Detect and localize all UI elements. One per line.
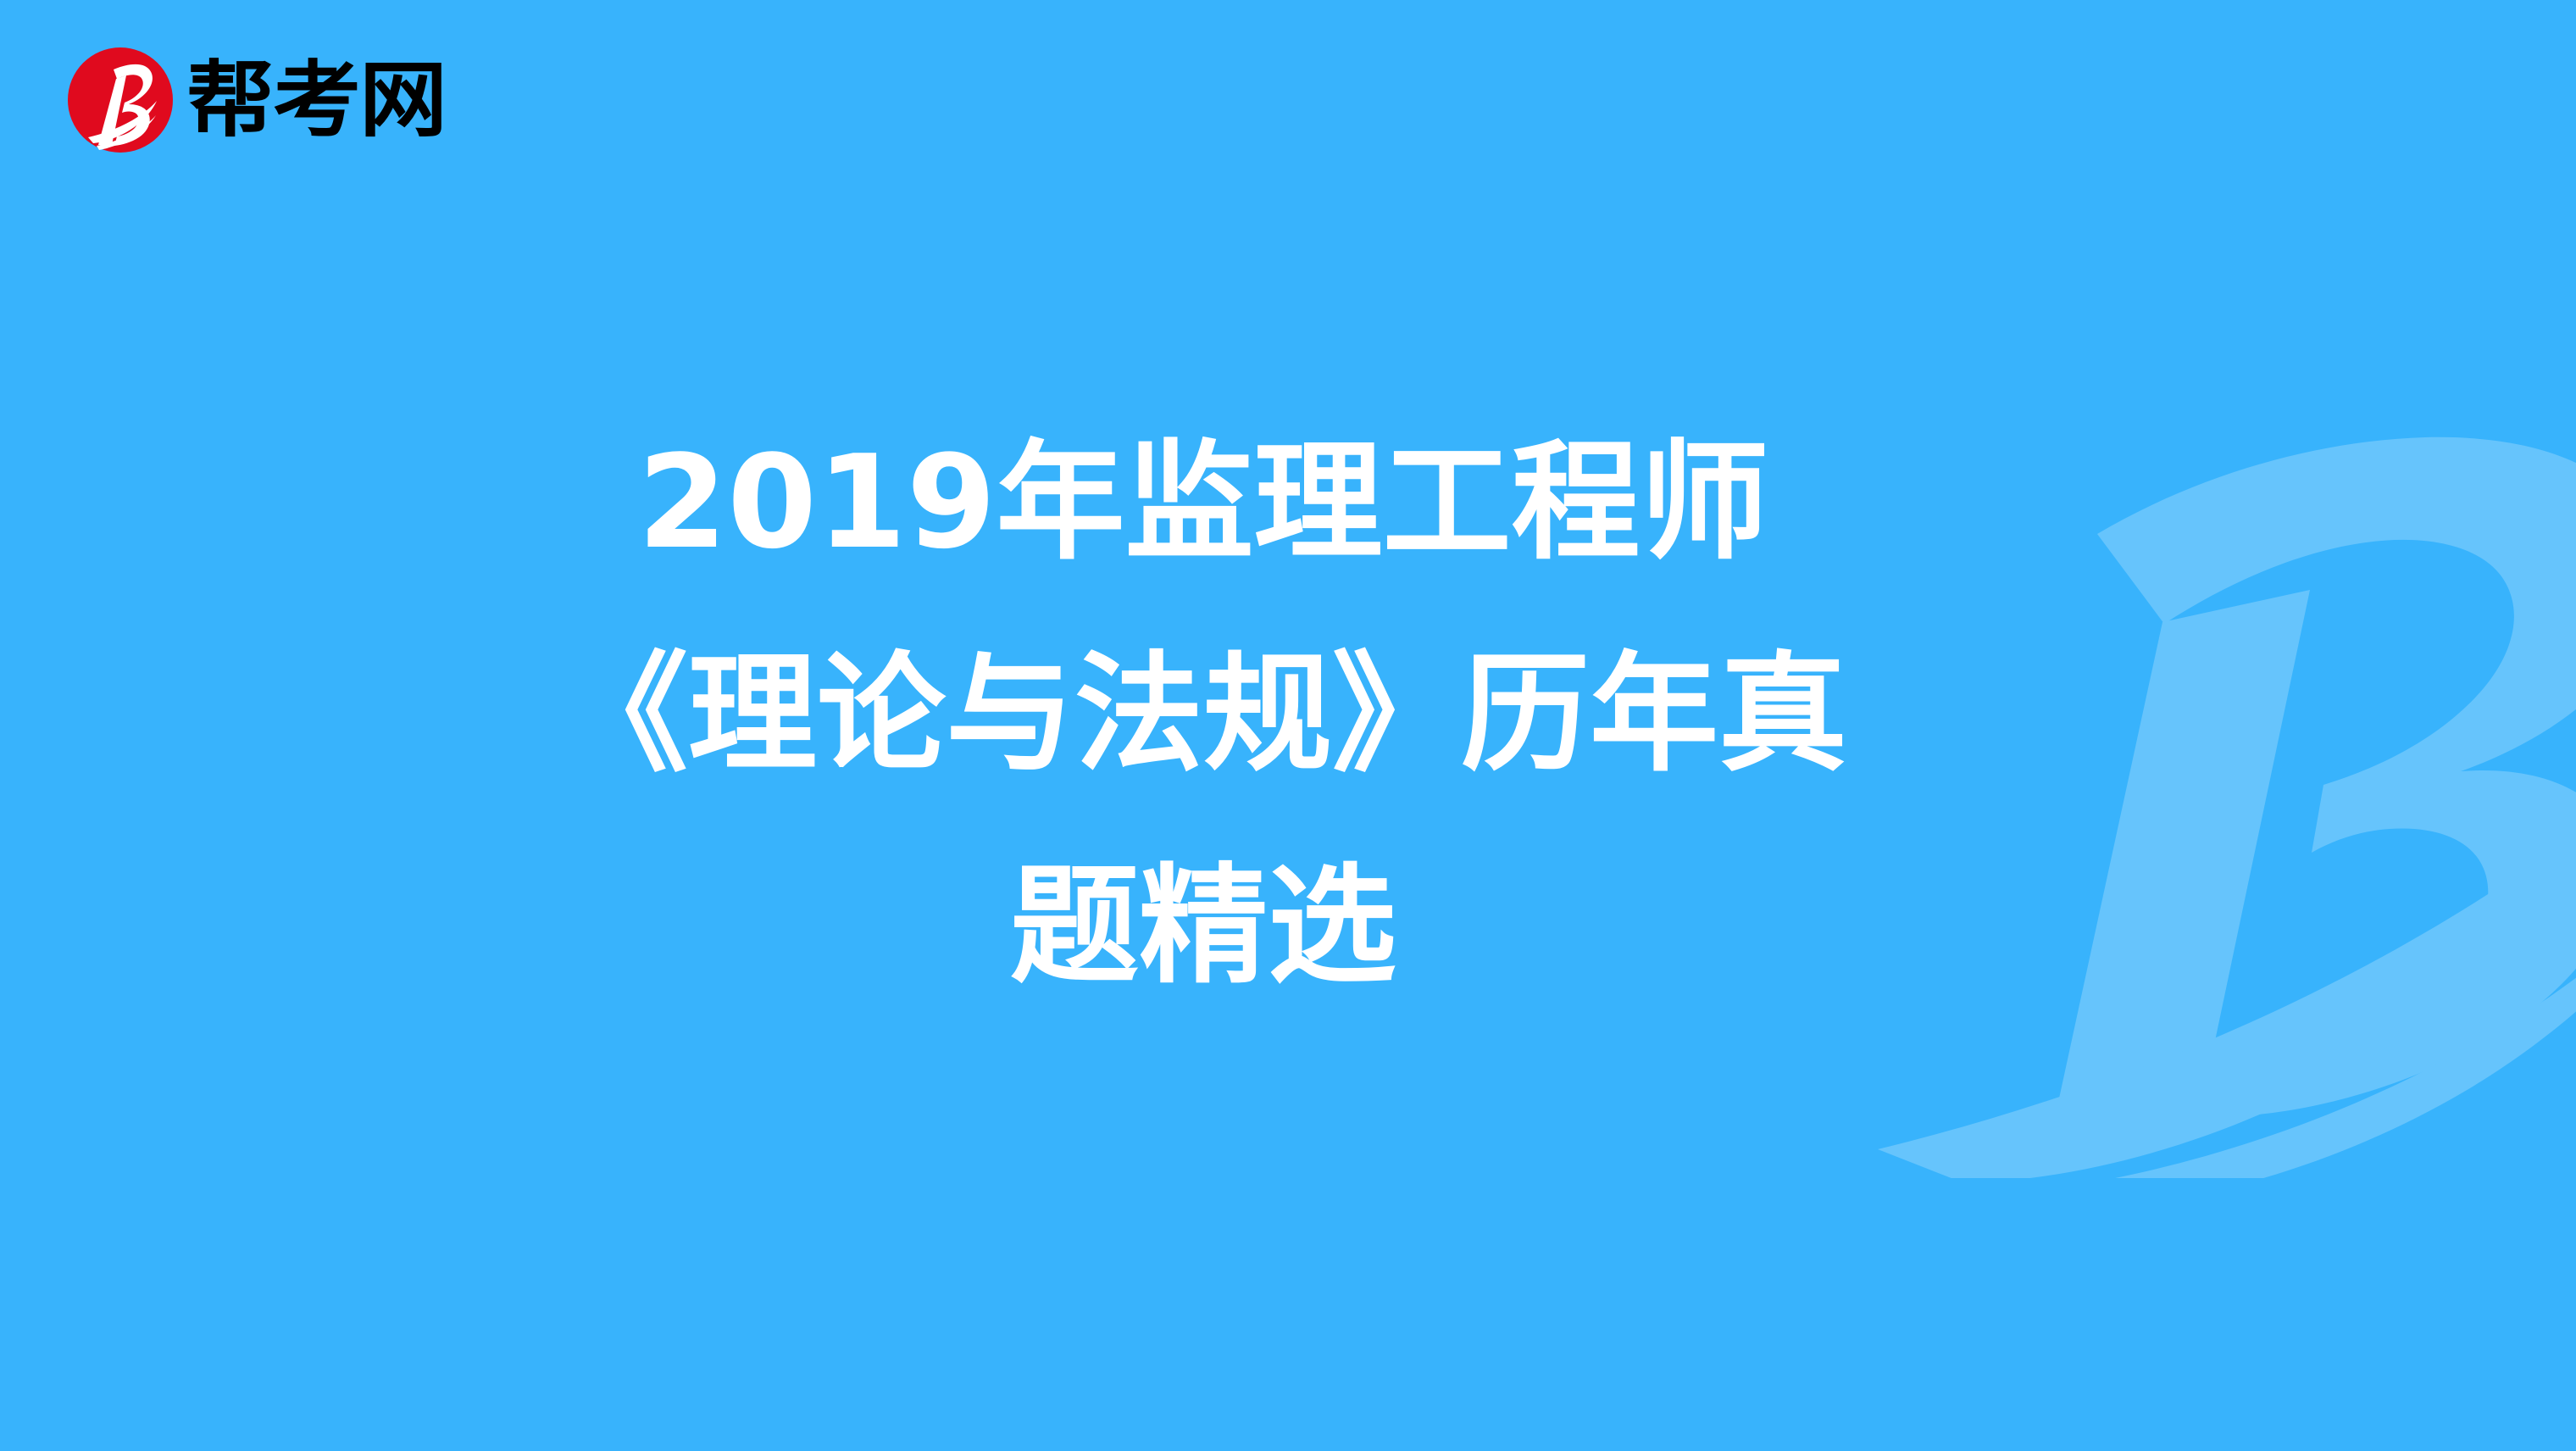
slide-canvas: 帮考网 2019年监理工程师 《理论与法规》历年真 题精选 <box>0 0 2576 1451</box>
page-title-line-3: 题精选 <box>0 820 2407 1032</box>
bangkao-b-logo-icon <box>66 46 175 154</box>
page-title-line-2: 《理论与法规》历年真 <box>0 609 2407 820</box>
brand-logo[interactable]: 帮考网 <box>66 41 446 159</box>
page-title: 2019年监理工程师 《理论与法规》历年真 题精选 <box>0 397 2407 1032</box>
brand-name: 帮考网 <box>186 58 446 142</box>
page-title-line-1: 2019年监理工程师 <box>0 397 2407 609</box>
